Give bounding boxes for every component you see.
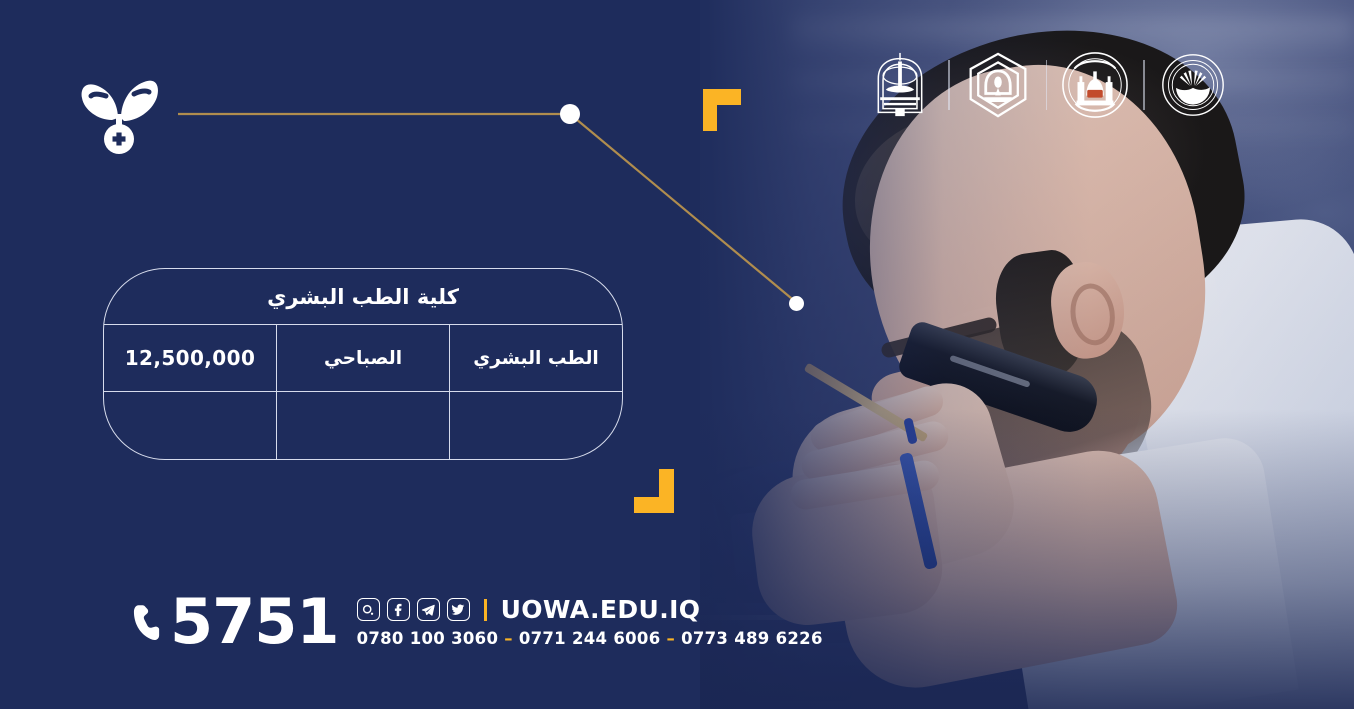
cell-department: الطب البشري [449, 325, 622, 391]
university-emblem-logo [960, 47, 1036, 123]
cell-study-type [276, 392, 449, 459]
cell-fee: 12,500,000 [104, 325, 276, 391]
institution-logo-bar [862, 47, 1231, 123]
footer-right: UOWA.EDU.IQ 0780 100 3060 – 0771 244 600… [357, 595, 823, 648]
content-layer: كلية الطب البشري الطب البشري الصباحي 12,… [0, 0, 1354, 709]
website-url[interactable]: UOWA.EDU.IQ [501, 595, 701, 624]
ministry-of-higher-education-iraq-logo [1155, 47, 1231, 123]
table-row: الطب البشري الصباحي 12,500,000 [104, 325, 622, 392]
phone-number-1[interactable]: 0780 100 3060 [357, 629, 499, 648]
corner-bracket-bottom [634, 469, 674, 513]
telegram-icon[interactable] [417, 598, 440, 621]
medical-plant-icon [78, 66, 160, 154]
phone-handset-icon [130, 598, 164, 646]
table-row [104, 392, 622, 459]
card-title: كلية الطب البشري [104, 269, 622, 325]
twitter-icon[interactable] [447, 598, 470, 621]
connector-dot-large [560, 104, 580, 124]
connector-dot-small [789, 296, 804, 311]
fees-table-card: كلية الطب البشري الطب البشري الصباحي 12,… [103, 268, 623, 460]
footer-separator [484, 599, 487, 621]
cell-fee [104, 392, 276, 459]
phone-dash-1: – [504, 629, 513, 648]
facebook-icon[interactable] [387, 598, 410, 621]
al-abbas-holy-shrine-logo [1057, 47, 1133, 123]
contact-footer: 5751 [130, 592, 823, 652]
cell-department [449, 392, 622, 459]
logo-divider [1046, 60, 1048, 110]
ministry-of-higher-education-anbar-logo [862, 47, 938, 123]
logo-divider [1143, 60, 1145, 110]
corner-bracket-top [703, 89, 741, 131]
phone-number-2[interactable]: 0771 244 6006 [519, 629, 661, 648]
hotline-number: 5751 [170, 592, 339, 652]
footer-top-line: UOWA.EDU.IQ [357, 595, 823, 624]
instagram-icon[interactable] [357, 598, 380, 621]
phone-dash-2: – [667, 629, 676, 648]
logo-divider [948, 60, 950, 110]
promo-banner: كلية الطب البشري الطب البشري الصباحي 12,… [0, 0, 1354, 709]
cell-study-type: الصباحي [276, 325, 449, 391]
phone-number-3[interactable]: 0773 489 6226 [681, 629, 823, 648]
phone-numbers: 0780 100 3060 – 0771 244 6006 – 0773 489… [357, 629, 823, 648]
